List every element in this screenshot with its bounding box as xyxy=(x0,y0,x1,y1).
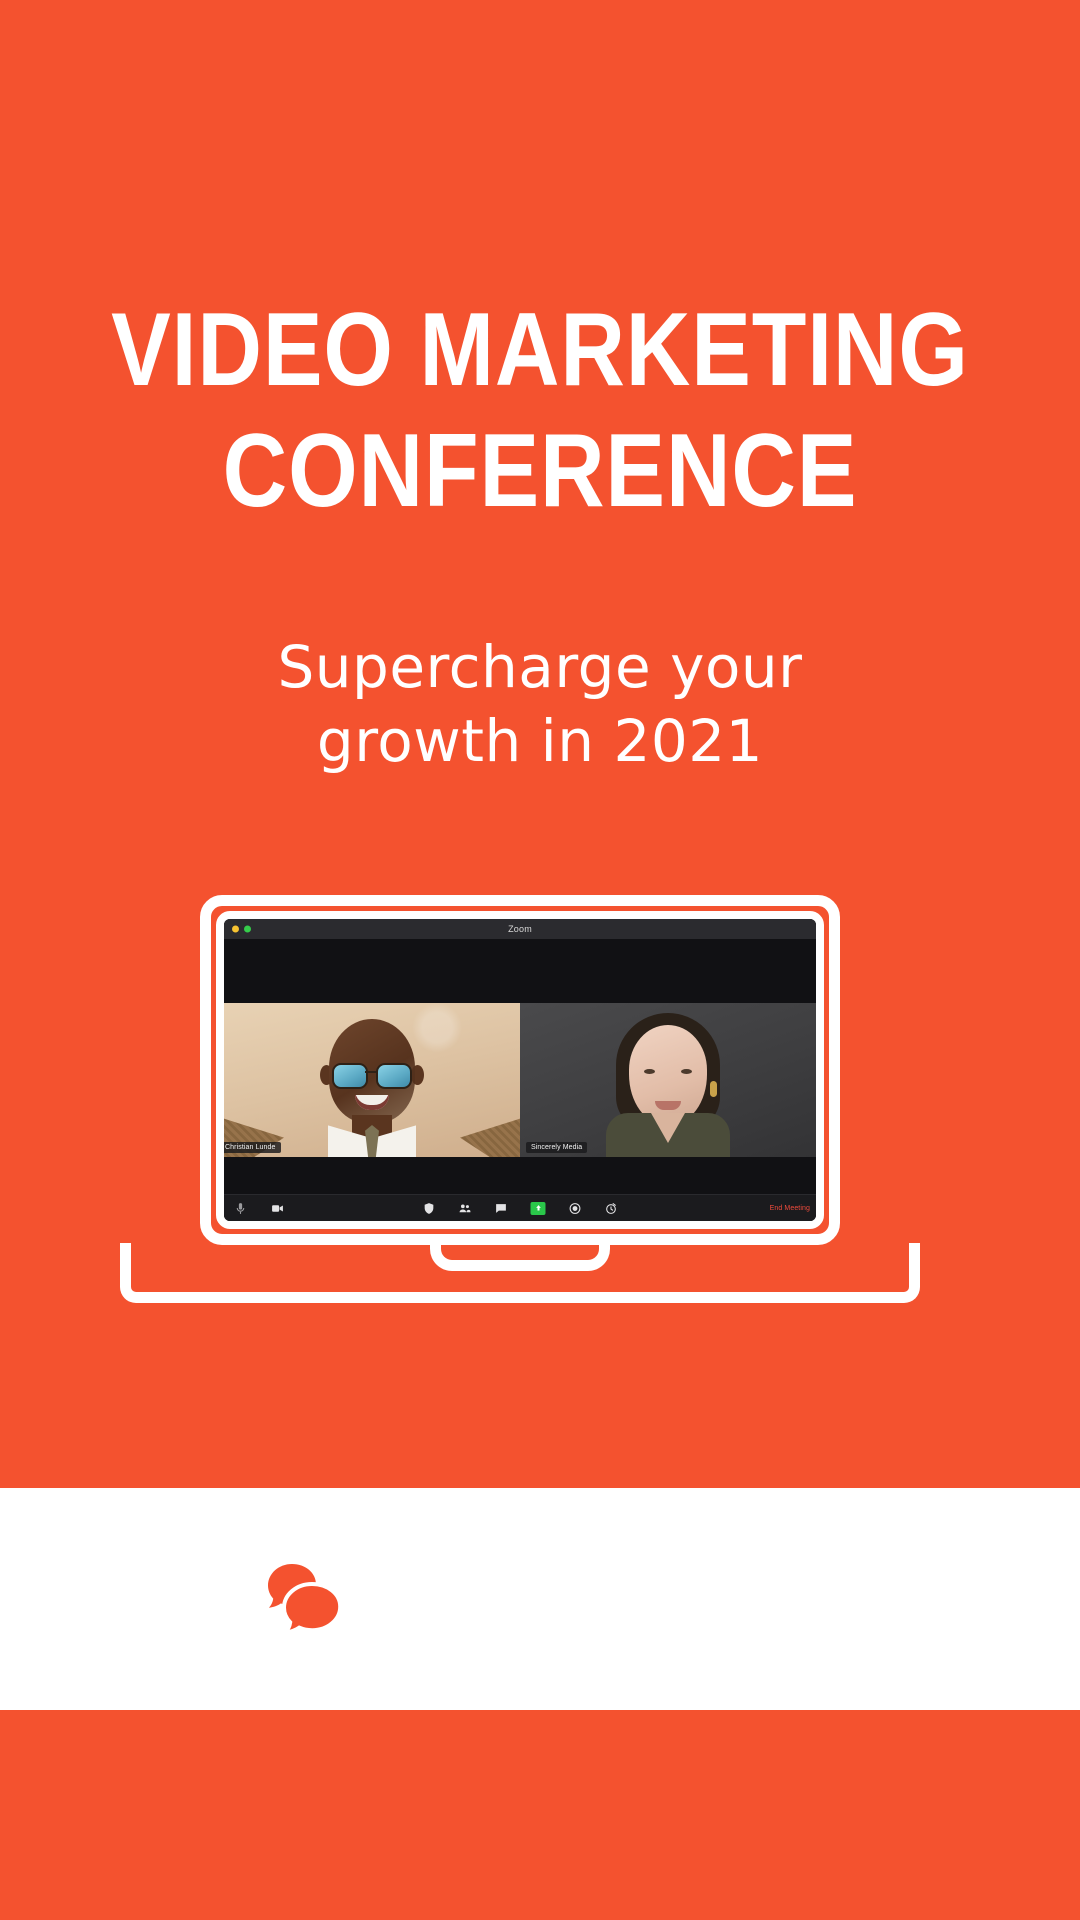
participant-name-label: Sincerely Media xyxy=(526,1142,587,1153)
participants-icon[interactable] xyxy=(459,1202,472,1215)
subtitle-line-1: Supercharge your xyxy=(0,630,1080,704)
window-traffic-lights xyxy=(232,926,251,933)
avatar-earring xyxy=(710,1081,717,1097)
video-camera-icon[interactable] xyxy=(271,1202,284,1215)
participant-tile-1[interactable]: Christian Lunde xyxy=(224,1003,520,1157)
subtitle-line-2: growth in 2021 xyxy=(0,704,1080,778)
zoom-titlebar: Zoom xyxy=(224,919,816,939)
zoom-window-title: Zoom xyxy=(508,924,532,934)
toolbar-center-group xyxy=(423,1195,618,1221)
laptop-illustration: Zoom xyxy=(120,895,960,1325)
participant-tile-2[interactable]: Sincerely Media xyxy=(520,1003,816,1157)
toolbar-right-group: End Meeting xyxy=(770,1195,810,1221)
laptop-screen: Zoom xyxy=(216,911,824,1229)
headline-line-1: VIDEO MARKETING xyxy=(76,290,1005,411)
participant-1-video xyxy=(224,1003,520,1157)
chat-icon[interactable] xyxy=(495,1202,508,1215)
shield-security-icon[interactable] xyxy=(423,1202,436,1215)
participant-name-label: Christian Lunde xyxy=(224,1142,281,1153)
participant-2-video xyxy=(520,1003,816,1157)
poster-canvas: VIDEO MARKETING CONFERENCE Supercharge y… xyxy=(0,0,1080,1920)
avatar-jacket-right xyxy=(460,1113,520,1157)
end-meeting-button[interactable]: End Meeting xyxy=(770,1205,810,1212)
subtitle: Supercharge your growth in 2021 xyxy=(0,630,1080,778)
reactions-icon[interactable] xyxy=(605,1202,618,1215)
maximize-icon[interactable] xyxy=(244,926,251,933)
zoom-toolbar: End Meeting xyxy=(224,1194,816,1221)
zoom-app-window: Zoom xyxy=(224,919,816,1221)
glasses-icon xyxy=(329,1063,415,1085)
toolbar-left-group xyxy=(234,1195,284,1221)
laptop-trackpad-notch xyxy=(430,1243,610,1271)
avatar-eye-left xyxy=(644,1069,655,1074)
avatar-eye-right xyxy=(681,1069,692,1074)
chat-bubbles-logo xyxy=(262,1562,342,1636)
minimize-icon[interactable] xyxy=(232,926,239,933)
avatar-head xyxy=(629,1025,707,1125)
share-screen-icon[interactable] xyxy=(531,1202,546,1215)
record-icon[interactable] xyxy=(569,1202,582,1215)
participant-grid: Christian Lunde xyxy=(224,1003,816,1157)
footer-band xyxy=(0,1488,1080,1710)
headline: VIDEO MARKETING CONFERENCE xyxy=(0,290,1080,531)
microphone-icon[interactable] xyxy=(234,1202,247,1215)
headline-line-2: CONFERENCE xyxy=(76,411,1005,532)
zoom-video-stage: Christian Lunde xyxy=(224,939,816,1194)
